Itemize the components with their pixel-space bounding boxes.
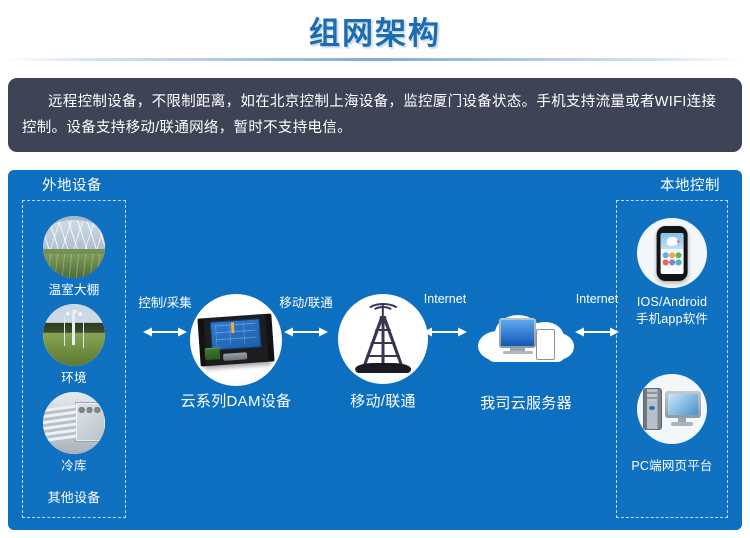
pc-tower-case bbox=[643, 388, 662, 430]
cloud-server-node: 我司云服务器 bbox=[474, 296, 578, 382]
smartphone-banner-graphic bbox=[667, 237, 678, 245]
network-diagram-panel: 外地设备 本地控制 温室大棚 环境 冷库 其他设备 控制/采集 bbox=[8, 170, 742, 530]
description-bar: 远程控制设备，不限制距离，如在北京控制上海设备，监控厦门设备状态。手机支持流量或… bbox=[8, 78, 742, 152]
tower-lattice bbox=[363, 316, 403, 365]
dam-terminal-block bbox=[204, 347, 220, 360]
dam-controller-device bbox=[200, 314, 271, 366]
environment-station-photo bbox=[43, 304, 105, 366]
mobile-app-caption-line2: 手机app软件 bbox=[616, 311, 728, 327]
environment-caption: 环境 bbox=[22, 370, 126, 386]
greenhouse-photo bbox=[43, 216, 105, 278]
cell-tower-label: 移动/联通 bbox=[303, 390, 463, 411]
bidirectional-arrow-3 bbox=[423, 325, 467, 339]
smartphone-screen bbox=[661, 233, 684, 274]
pc-monitor bbox=[665, 391, 701, 419]
server-case bbox=[536, 329, 555, 361]
cold-storage-caption: 冷库 bbox=[22, 458, 126, 474]
cell-tower-icon bbox=[355, 307, 411, 374]
environment-photo-circle bbox=[43, 304, 105, 366]
server-monitor-foot bbox=[503, 351, 532, 354]
cloud-server-circle bbox=[474, 296, 578, 382]
bidirectional-arrow-4 bbox=[575, 325, 619, 339]
left-group-heading: 外地设备 bbox=[42, 174, 102, 195]
server-monitor bbox=[499, 318, 536, 348]
cold-storage-photo bbox=[43, 392, 105, 454]
cold-storage-knobs bbox=[78, 406, 102, 415]
server-graphic bbox=[499, 318, 555, 361]
mobile-app-caption-line1: IOS/Android bbox=[616, 294, 728, 310]
bidirectional-arrow-2 bbox=[284, 325, 328, 339]
pc-monitor-foot bbox=[671, 422, 693, 425]
cell-tower-node: 移动/联通 bbox=[338, 294, 428, 384]
smartphone-app-icons bbox=[662, 252, 681, 270]
cell-tower-circle bbox=[338, 294, 428, 384]
cloud-server-label: 我司云服务器 bbox=[446, 392, 606, 413]
dam-device-label: 云系列DAM设备 bbox=[156, 390, 316, 411]
smartphone-circle bbox=[637, 218, 707, 288]
title-divider bbox=[4, 58, 746, 61]
page-title: 组网架构 bbox=[0, 8, 750, 53]
pc-platform-caption: PC端网页平台 bbox=[616, 458, 728, 474]
link-label-internet-1: Internet bbox=[412, 292, 478, 306]
desktop-pc-circle bbox=[637, 374, 707, 444]
link-label-mobile-unicom: 移动/联通 bbox=[266, 292, 346, 311]
right-group-heading: 本地控制 bbox=[660, 174, 720, 195]
greenhouse-caption: 温室大棚 bbox=[22, 282, 126, 298]
tower-base bbox=[355, 363, 411, 374]
bidirectional-arrow-1 bbox=[143, 325, 187, 339]
smartphone-icon bbox=[657, 226, 688, 281]
desktop-pc-icon bbox=[643, 388, 702, 430]
greenhouse-photo-circle bbox=[43, 216, 105, 278]
cold-storage-photo-circle bbox=[43, 392, 105, 454]
other-devices-caption: 其他设备 bbox=[22, 490, 126, 506]
description-text: 远程控制设备，不限制距离，如在北京控制上海设备，监控厦门设备状态。手机支持流量或… bbox=[22, 89, 728, 141]
page-root: 组网架构 远程控制设备，不限制距离，如在北京控制上海设备，监控厦门设备状态。手机… bbox=[0, 0, 750, 538]
